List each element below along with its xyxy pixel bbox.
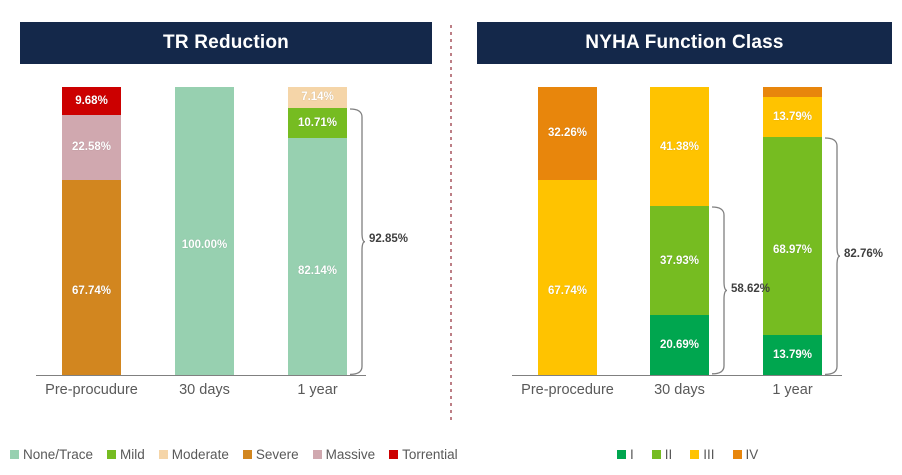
legend-item-none-trace[interactable]: None/Trace — [10, 448, 93, 462]
legend-item-label: III — [703, 448, 714, 462]
bar-segment-moderate[interactable]: 7.14% — [288, 87, 347, 108]
bar-nyha-function-class-30-days[interactable]: 20.69%37.93%41.38% — [650, 87, 709, 375]
legend-item-iv[interactable]: IV — [733, 448, 759, 462]
legend-item-torrential[interactable]: Torrential — [389, 448, 458, 462]
bar-segment-iii[interactable]: 67.74% — [538, 180, 597, 375]
bar-segment-none-trace[interactable]: 82.14% — [288, 138, 347, 375]
legend-item-severe[interactable]: Severe — [243, 448, 299, 462]
bar-segment-value-label: 32.26% — [548, 127, 587, 139]
x-axis-label-pre-procedure: Pre-procedure — [503, 382, 632, 398]
legend-item-label: IV — [746, 448, 759, 462]
legend-item-iii[interactable]: III — [690, 448, 714, 462]
x-axis-label-1-year: 1 year — [253, 382, 382, 398]
brace-annotation-label: 58.62% — [731, 283, 770, 295]
bar-segment-massive[interactable]: 22.58% — [62, 115, 121, 180]
bar-tr-reduction-1-year[interactable]: 82.14%10.71%7.14% — [288, 87, 347, 375]
legend-swatch-icon — [107, 450, 116, 459]
bar-segment-value-label: 67.74% — [548, 285, 587, 297]
x-axis-label-pre-procudure: Pre-procudure — [27, 382, 156, 398]
bar-segment-value-label: 41.38% — [660, 141, 699, 153]
slide-root: TR Reduction 67.74%22.58%9.68%100.00%82.… — [0, 0, 902, 475]
legend-item-label: Severe — [256, 448, 299, 462]
bar-segment-iv[interactable]: 3.45% — [763, 87, 822, 97]
legend-item-label: Torrential — [402, 448, 458, 462]
bar-segment-value-label: 37.93% — [660, 255, 699, 267]
legend-item-mild[interactable]: Mild — [107, 448, 145, 462]
bar-segment-iii[interactable]: 13.79% — [763, 97, 822, 137]
legend-swatch-icon — [10, 450, 19, 459]
legend-item-moderate[interactable]: Moderate — [159, 448, 229, 462]
bar-segment-value-label: 100.00% — [182, 239, 227, 251]
legend-nyha-function-class: IIIIIIIV — [617, 448, 776, 462]
x-axis-line-left — [36, 375, 366, 376]
bar-segment-value-label: 68.97% — [773, 244, 812, 256]
bar-tr-reduction-30-days[interactable]: 100.00% — [175, 87, 234, 375]
bar-segment-severe[interactable]: 67.74% — [62, 180, 121, 375]
bar-segment-iv[interactable]: 32.26% — [538, 87, 597, 180]
legend-swatch-icon — [243, 450, 252, 459]
legend-item-label: Moderate — [172, 448, 229, 462]
bar-segment-iii[interactable]: 41.38% — [650, 87, 709, 206]
legend-swatch-icon — [617, 450, 626, 459]
bar-segment-ii[interactable]: 68.97% — [763, 137, 822, 336]
brace-annotation-label: 82.76% — [844, 248, 883, 260]
panel-tr-reduction: TR Reduction 67.74%22.58%9.68%100.00%82.… — [0, 0, 451, 475]
legend-item-ii[interactable]: II — [652, 448, 673, 462]
legend-tr-reduction: None/TraceMildModerateSevereMassiveTorre… — [10, 448, 458, 462]
bar-segment-i[interactable]: 20.69% — [650, 315, 709, 375]
legend-swatch-icon — [733, 450, 742, 459]
x-axis-label-30-days: 30 days — [615, 382, 744, 398]
bar-segment-value-label: 10.71% — [298, 117, 337, 129]
bar-segment-mild[interactable]: 10.71% — [288, 108, 347, 139]
bar-nyha-function-class-pre-procedure[interactable]: 67.74%32.26% — [538, 87, 597, 375]
legend-item-label: None/Trace — [23, 448, 93, 462]
bar-segment-torrential[interactable]: 9.68% — [62, 87, 121, 115]
legend-item-label: Mild — [120, 448, 145, 462]
brace-annotation-label: 92.85% — [369, 233, 408, 245]
x-axis-label-30-days: 30 days — [140, 382, 269, 398]
legend-swatch-icon — [690, 450, 699, 459]
legend-swatch-icon — [159, 450, 168, 459]
bar-segment-none-trace[interactable]: 100.00% — [175, 87, 234, 375]
bar-segment-value-label: 13.79% — [773, 349, 812, 361]
bar-nyha-function-class-1-year[interactable]: 13.79%68.97%13.79%3.45% — [763, 87, 822, 375]
x-axis-label-1-year: 1 year — [728, 382, 857, 398]
bar-tr-reduction-pre-procudure[interactable]: 67.74%22.58%9.68% — [62, 87, 121, 375]
x-axis-line-right — [512, 375, 842, 376]
bar-segment-ii[interactable]: 37.93% — [650, 206, 709, 315]
legend-item-label: Massive — [326, 448, 376, 462]
bar-segment-value-label: 7.14% — [301, 91, 334, 103]
bar-segment-value-label: 67.74% — [72, 285, 111, 297]
legend-item-massive[interactable]: Massive — [313, 448, 376, 462]
legend-item-label: II — [665, 448, 673, 462]
bar-segment-value-label: 22.58% — [72, 141, 111, 153]
legend-item-i[interactable]: I — [617, 448, 634, 462]
legend-swatch-icon — [652, 450, 661, 459]
legend-swatch-icon — [313, 450, 322, 459]
bar-segment-value-label: 13.79% — [773, 111, 812, 123]
bar-segment-value-label: 20.69% — [660, 339, 699, 351]
legend-item-label: I — [630, 448, 634, 462]
bar-segment-value-label: 9.68% — [75, 95, 108, 107]
legend-swatch-icon — [389, 450, 398, 459]
bar-segment-value-label: 82.14% — [298, 265, 337, 277]
bar-segment-i[interactable]: 13.79% — [763, 335, 822, 375]
